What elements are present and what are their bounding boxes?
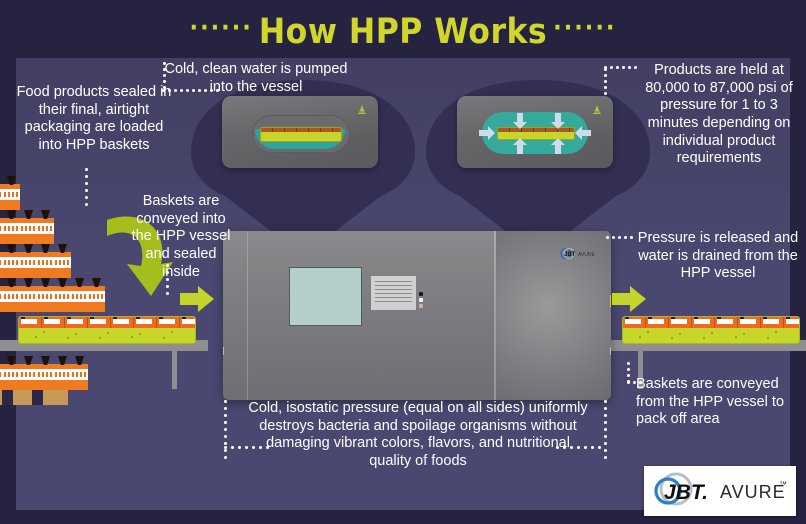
svg-text:AVURE: AVURE (578, 252, 595, 258)
inset-panel-pressure-hold (457, 96, 613, 168)
pressure-arrow-down-icon (551, 113, 565, 129)
callout-isostatic-pressure: Cold, isostatic pressure (equal on all s… (248, 400, 588, 471)
pressure-arrow-right-icon (479, 126, 495, 140)
machine-tab-right (610, 347, 611, 355)
arrow-right-out-of-vessel-icon (612, 286, 646, 312)
basket-left-conveyor (18, 316, 196, 344)
juice-bottle (54, 244, 71, 278)
juice-bottle (54, 356, 71, 390)
hpp-machine: JBT AVURE (223, 231, 611, 400)
basket-product-row (19, 317, 195, 328)
leader-products-held-vertical (604, 68, 610, 100)
conveyor-leg-left (172, 351, 177, 389)
machine-yellow-nub (610, 295, 611, 307)
pressure-arrow-down-icon (513, 113, 527, 129)
machine-indicator-lights (419, 292, 423, 310)
machine-control-label (371, 276, 416, 310)
callout-baskets-in: Baskets are conveyed into the HPP vessel… (126, 193, 236, 281)
juice-bottle (3, 244, 20, 278)
leader-food-products-vertical (85, 168, 91, 210)
juice-bottle (3, 176, 20, 210)
callout-cold-water: Cold, clean water is pumped into the ves… (156, 61, 356, 96)
leader-isostatic-right-vertical (604, 400, 610, 462)
juice-bottle (37, 210, 54, 244)
juice-bottle (3, 278, 20, 312)
juice-bottle (37, 278, 54, 312)
juice-bottle (37, 356, 54, 390)
trademark-text: ™ (779, 480, 787, 489)
juice-bottle (71, 278, 88, 312)
basket-product-row (623, 317, 799, 328)
avure-mark-icon (354, 103, 370, 116)
machine-tab-left (223, 347, 224, 355)
callout-food-products: Food products sealed in their final, air… (14, 84, 174, 155)
brand-secondary-text: AVURE (720, 482, 786, 502)
callout-pressure-released: Pressure is released and water is draine… (634, 230, 802, 283)
arrow-right-into-vessel-icon (180, 286, 214, 312)
pressure-arrow-up-icon (551, 138, 565, 154)
juice-bottle (3, 210, 20, 244)
leader-isostatic-left-vertical (224, 400, 230, 462)
vessel-product-row (261, 128, 341, 132)
machine-seam-left (247, 231, 248, 400)
footer-brand-logo: JBT. AVURE ™ (644, 466, 796, 516)
callout-baskets-out: Baskets are conveyed from the HPP vessel… (636, 376, 800, 429)
infographic-canvas: ······ How HPP Works ······ (0, 0, 806, 524)
inset-panel-water-fill (222, 96, 378, 168)
juice-bottle (20, 356, 37, 390)
vessel-basket (260, 127, 342, 142)
wooden-pallet (0, 390, 68, 405)
pressure-arrow-up-icon (513, 138, 527, 154)
page-title: ······ How HPP Works ······ (0, 10, 806, 54)
leader-pressure-released (606, 236, 636, 242)
juice-bottle (54, 278, 71, 312)
juice-bottle (20, 210, 37, 244)
juice-bottle (71, 356, 88, 390)
machine-display-screen[interactable] (289, 267, 362, 326)
pressure-arrow-left-icon (575, 126, 591, 140)
juice-bottle (3, 356, 20, 390)
avure-mark-icon (589, 103, 605, 116)
machine-seam-right (494, 231, 496, 400)
svg-text:JBT: JBT (564, 252, 576, 258)
jbt-avure-logo-icon: JBT. AVURE ™ (650, 471, 790, 511)
brand-primary-text: JBT. (664, 481, 708, 504)
juice-bottle (37, 244, 54, 278)
basket-right-conveyor (622, 316, 800, 344)
title-text: How HPP Works (259, 12, 547, 52)
machine-jbt-avure-logo: JBT AVURE (559, 248, 595, 259)
juice-bottle (20, 278, 37, 312)
callout-products-held: Products are held at 80,000 to 87,000 ps… (634, 62, 804, 168)
juice-bottle (20, 244, 37, 278)
